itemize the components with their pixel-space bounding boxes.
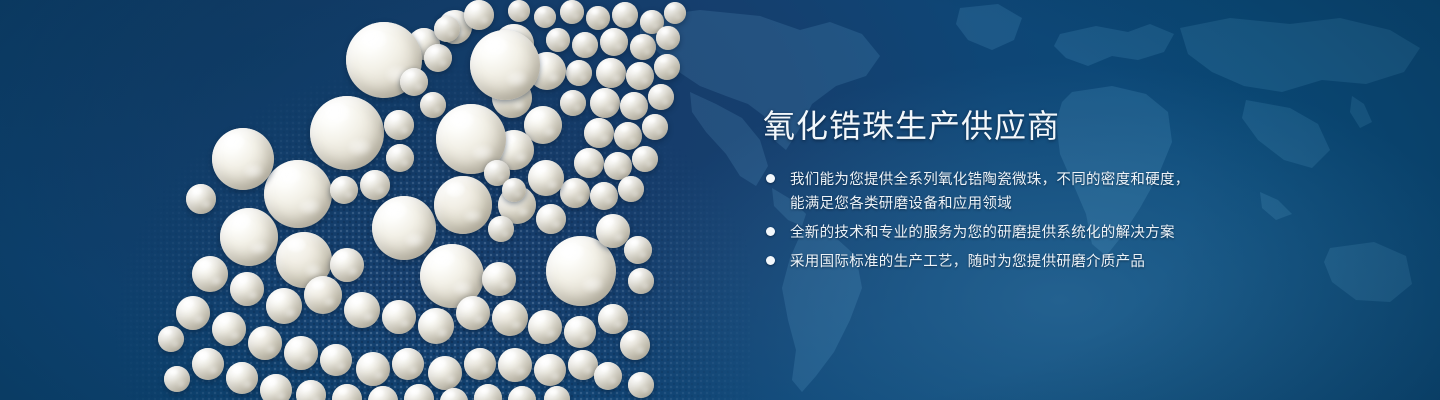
list-item: 采用国际标准的生产工艺，随时为您提供研磨介质产品 [763,250,1233,274]
bullet-dot-icon [766,256,775,265]
list-item: 我们能为您提供全系列氧化锆陶瓷微珠，不同的密度和硬度， 能满足您各类研磨设备和应… [763,168,1233,216]
list-item-line: 全新的技术和专业的服务为您的研磨提供系统化的解决方案 [790,221,1233,245]
list-item-line: 我们能为您提供全系列氧化锆陶瓷微珠，不同的密度和硬度， [790,168,1233,192]
bullet-dot-icon [766,174,775,183]
list-item-text: 全新的技术和专业的服务为您的研磨提供系统化的解决方案 [790,221,1233,245]
halftone-dot-pattern [110,0,750,400]
list-item-text: 采用国际标准的生产工艺，随时为您提供研磨介质产品 [790,250,1233,274]
hero-copy: 氧化锆珠生产供应商 我们能为您提供全系列氧化锆陶瓷微珠，不同的密度和硬度， 能满… [763,0,1283,400]
hero-banner: 氧化锆珠生产供应商 我们能为您提供全系列氧化锆陶瓷微珠，不同的密度和硬度， 能满… [0,0,1440,400]
page-title: 氧化锆珠生产供应商 [763,110,1060,142]
list-item: 全新的技术和专业的服务为您的研磨提供系统化的解决方案 [763,221,1233,245]
feature-list: 我们能为您提供全系列氧化锆陶瓷微珠，不同的密度和硬度， 能满足您各类研磨设备和应… [763,168,1233,279]
bullet-dot-icon [766,227,775,236]
list-item-line: 采用国际标准的生产工艺，随时为您提供研磨介质产品 [790,250,1233,274]
list-item-line: 能满足您各类研磨设备和应用领域 [790,192,1233,216]
list-item-text: 我们能为您提供全系列氧化锆陶瓷微珠，不同的密度和硬度， 能满足您各类研磨设备和应… [790,168,1233,216]
